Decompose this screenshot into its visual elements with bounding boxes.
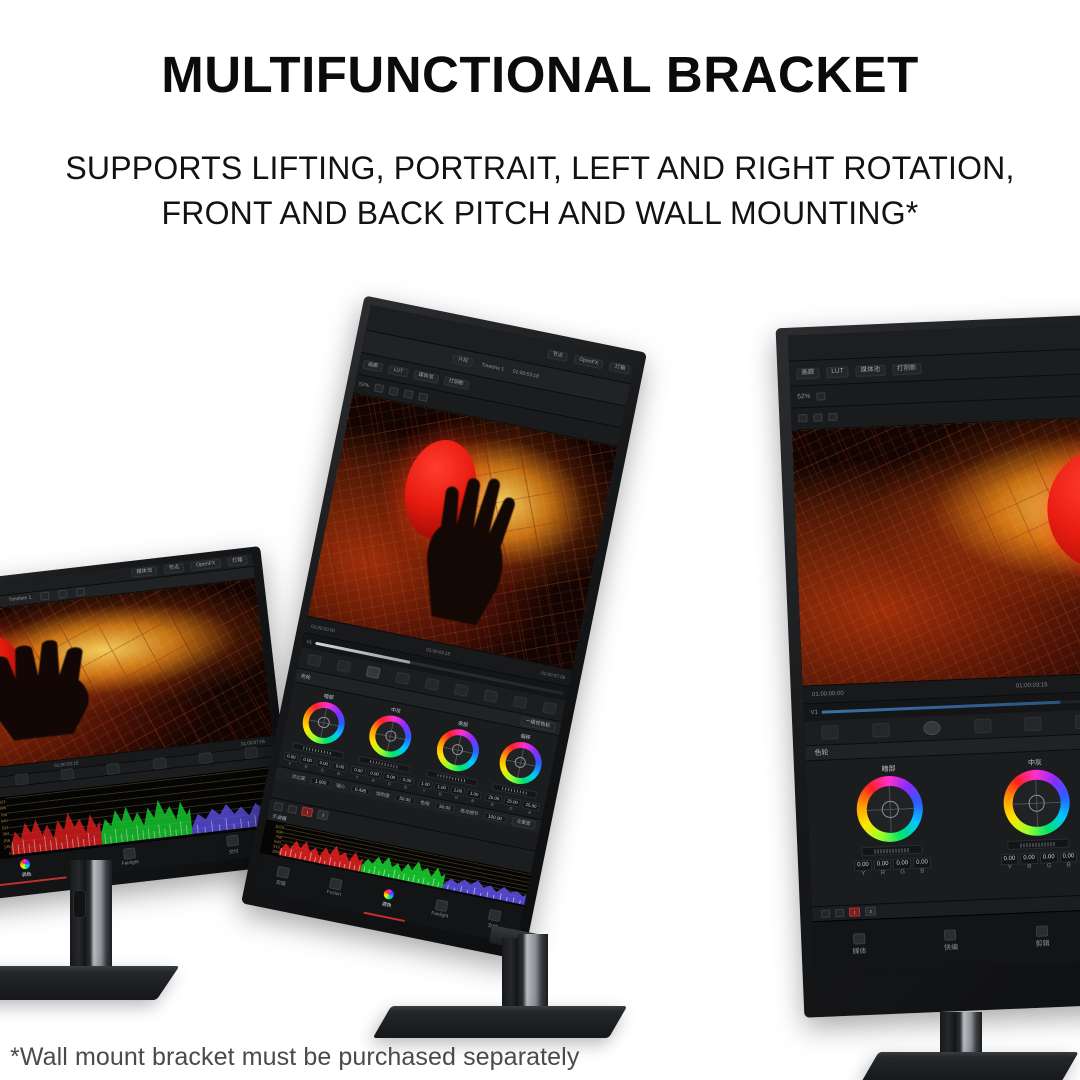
subtitle-line-1: SUPPORTS LIFTING, PORTRAIT, LEFT AND RIG…	[0, 146, 1080, 191]
cut-page-icon	[944, 930, 956, 941]
titlebar-openfx[interactable]: OpenFX	[191, 558, 221, 571]
hand-silhouette	[0, 634, 113, 747]
wheel-value[interactable]: 0.00	[893, 859, 911, 871]
viewer-fine-grid	[792, 411, 1080, 685]
color-wheel-gamma[interactable]	[1002, 769, 1071, 838]
chevron-down-icon[interactable]	[40, 592, 50, 601]
keyframe-icon[interactable]	[542, 701, 557, 714]
color-wheel-lift[interactable]	[856, 775, 925, 844]
track-label: V1	[810, 710, 818, 716]
color-wheel-offset[interactable]	[496, 738, 546, 788]
timecode-end: 01:00:07:05	[541, 670, 566, 680]
product-banner: MULTIFUNCTIONAL BRACKET SUPPORTS LIFTING…	[0, 0, 1080, 1080]
param-value[interactable]: 0.435	[350, 785, 371, 796]
toolbar-media-pool[interactable]: 媒体池	[855, 365, 885, 377]
stand-left-neck-dark	[70, 860, 86, 976]
page-tab-media[interactable]: 媒体	[812, 918, 906, 973]
deliver-page-icon	[226, 834, 239, 846]
node-2[interactable]: 2	[317, 810, 330, 821]
wheel-value[interactable]: 0.00	[1040, 852, 1058, 864]
timecode-end: 01:00:07:05	[241, 738, 266, 746]
toolbar-gallery[interactable]: 画廊	[362, 360, 383, 373]
page-tab-edit[interactable]: 剪辑	[995, 911, 1080, 966]
wheel-channel: Y	[861, 871, 865, 877]
toolbar-gallery[interactable]: 画廊	[796, 368, 819, 379]
color-page-icon	[383, 888, 395, 900]
chevron-down-icon[interactable]	[374, 384, 384, 394]
subbar-timeline-name[interactable]: Timeline 1	[8, 595, 31, 604]
timecode-start: 01:00:00:00	[812, 690, 844, 697]
titlebar-media-pool[interactable]: 媒体池	[131, 566, 157, 578]
wheel-values: 0.00Y 0.00R 0.00G 0.00B	[1000, 852, 1077, 872]
stand-center-base	[373, 1006, 627, 1038]
toolbar-lut[interactable]: LUT	[388, 365, 409, 378]
wheel-label: 中灰	[1028, 758, 1042, 769]
fit-screen-icon[interactable]	[389, 387, 399, 397]
param-label: 高光细节	[460, 808, 479, 818]
stand-center-neck	[518, 934, 548, 1016]
fairlight-page-icon	[435, 899, 449, 912]
wheel-channel: Y	[1008, 865, 1012, 871]
wipe-icon[interactable]	[828, 413, 837, 421]
titlebar-lightbox[interactable]: 灯箱	[227, 555, 248, 566]
color-panel-title: 色轮	[300, 672, 311, 681]
track-label: V1	[306, 639, 312, 645]
wheel-cell: 暗部 0.00Y 0.00R 0.00G 0.00B	[850, 763, 931, 878]
wheel-handle[interactable]	[882, 801, 899, 818]
page-tab-label: Fairlight	[431, 911, 449, 919]
wheel-channel: G	[387, 781, 391, 787]
chevron-down-icon[interactable]	[816, 392, 825, 400]
grid-view-icon[interactable]	[58, 590, 68, 599]
tracker-icon[interactable]	[1025, 717, 1043, 732]
timecode-mid: 01:00:03:15	[426, 647, 451, 657]
page-tab-label: Fusion	[326, 890, 341, 898]
wheel-label: 中灰	[390, 706, 401, 715]
stand-left	[0, 860, 240, 1040]
wheel-channel: G	[320, 768, 324, 774]
stand-left-neck	[86, 860, 112, 976]
page-tab-label: 调色	[381, 900, 392, 909]
edit-page-icon	[1036, 926, 1048, 937]
snapshot-icon[interactable]	[835, 909, 844, 917]
blur-icon[interactable]	[198, 752, 212, 764]
param-value[interactable]: 50.00	[395, 794, 416, 805]
color-wheels-icon[interactable]	[923, 721, 941, 736]
wheel-channel: Y	[355, 775, 359, 780]
viewer-right	[792, 411, 1080, 685]
wheel-channel: G	[454, 795, 458, 801]
wheel-channel: B	[471, 798, 475, 803]
wheel-master-slider[interactable]	[861, 845, 923, 857]
param-value[interactable]: 50.00	[435, 802, 456, 813]
color-wheel-gamma[interactable]	[366, 712, 416, 762]
param-value[interactable]: 100.00	[483, 812, 506, 823]
monitor-right-screen: 片段 画廊 LUT 媒体池 打阴影 Timeline 52%	[788, 317, 1080, 974]
magic-mask-icon[interactable]	[1075, 715, 1080, 730]
subtitle-line-2: FRONT AND BACK PITCH AND WALL MOUNTING*	[0, 191, 1080, 236]
subbar-timeline-name[interactable]: Timeline 1	[481, 362, 505, 372]
titlebar-nodes[interactable]: 节点	[547, 349, 569, 362]
window-icon[interactable]	[974, 719, 992, 734]
stand-left-cable-hole	[73, 890, 86, 918]
keyframe-icon[interactable]	[821, 909, 830, 917]
window-icon[interactable]	[14, 773, 28, 785]
edit-page-icon	[276, 866, 290, 879]
wheel-channel: R	[371, 778, 375, 784]
param-label: 轴心	[336, 782, 346, 790]
wheel-cell: 偏移 25.00R 25.00G 25.00B	[484, 728, 554, 817]
eyedropper-icon[interactable]	[483, 689, 498, 702]
stand-right-neck	[956, 1012, 982, 1056]
color-wheel-lift[interactable]	[299, 698, 349, 748]
param-label: 对比度	[291, 773, 306, 782]
stand-center-neck-dark	[502, 938, 518, 1016]
zoom-level[interactable]: 52%	[797, 393, 810, 401]
param-label: 饱和度	[375, 790, 390, 799]
wheel-channel: B	[528, 810, 532, 815]
wheel-value[interactable]: 0.00	[1000, 854, 1018, 866]
stand-right	[880, 1012, 1080, 1080]
subbar-timecode: 01:00:53:18	[512, 368, 539, 379]
wheel-label: 暗部	[323, 692, 334, 701]
split-view-icon[interactable]	[403, 390, 413, 400]
curves-icon[interactable]	[821, 725, 839, 740]
wheel-label: 暗部	[881, 764, 895, 775]
titlebar-openfx[interactable]: OpenFX	[573, 355, 604, 370]
wheel-value[interactable]: 0.00	[1059, 852, 1077, 864]
monitor-right-landscape: 片段 画廊 LUT 媒体池 打阴影 Timeline 52%	[776, 309, 1080, 1018]
wheel-channel: B	[1067, 863, 1071, 869]
toolbar-shading[interactable]: 打阴影	[892, 363, 922, 375]
param-label: 色相	[420, 799, 430, 807]
fusion-page-icon	[329, 878, 343, 891]
zoom-level[interactable]: 52%	[358, 381, 369, 389]
wheel-channel: G	[1047, 864, 1052, 870]
wheel-channel: R	[438, 792, 442, 798]
toolbar-media-pool[interactable]: 媒体池	[413, 370, 439, 384]
curves-icon[interactable]	[306, 654, 321, 667]
timecode-mid: 01:00:03:15	[1016, 682, 1048, 689]
wheel-label: 偏移	[520, 732, 531, 741]
stand-left-base	[0, 966, 179, 1000]
wheel-cell: 亮部 1.00Y 1.00R 1.00G 1.00B	[416, 714, 495, 805]
media-page-icon	[853, 934, 865, 945]
color-wheels-right: 暗部 0.00Y 0.00R 0.00G 0.00B	[806, 743, 1080, 882]
snapshot-icon[interactable]	[288, 804, 298, 814]
keyframe-icon[interactable]	[274, 802, 284, 812]
wheel-value[interactable]: 0.00	[854, 860, 872, 872]
wheel-channel: B	[404, 785, 408, 790]
stand-center	[370, 930, 660, 1050]
color-panel-title: 色轮	[814, 748, 828, 759]
node-1[interactable]: 1	[301, 807, 314, 818]
wheel-channel: Y	[422, 788, 426, 793]
qualifier-icon[interactable]	[336, 660, 351, 673]
split-view-icon[interactable]	[798, 414, 807, 422]
magic-mask-icon[interactable]	[453, 684, 468, 697]
tracker-icon[interactable]	[60, 768, 74, 780]
keyframe-icon[interactable]	[244, 747, 258, 759]
node-1[interactable]: 1	[849, 908, 860, 917]
monitor-left-screen: Untitled Project 片段 媒体池 节点 OpenFX 灯箱 Tim…	[0, 553, 286, 901]
window-icon[interactable]	[395, 672, 410, 685]
wheel-channel: G	[900, 870, 905, 876]
wipe-icon[interactable]	[418, 393, 428, 403]
magic-mask-icon[interactable]	[106, 763, 120, 775]
wheel-channel: G	[509, 806, 513, 812]
resolve-ui-center: 节点 OpenFX 灯箱 片段 Timeline 1 01:00:53:18 画…	[252, 305, 636, 945]
subbar-clips[interactable]: 片段	[452, 355, 473, 368]
wheel-channel: R	[490, 802, 494, 808]
eyedropper-icon[interactable]	[152, 757, 166, 769]
qualifier-icon[interactable]	[872, 723, 890, 738]
timecode-start: 01:00:00:00	[311, 623, 336, 633]
deliver-page-icon	[488, 909, 502, 922]
footnote-text: *Wall mount bracket must be purchased se…	[10, 1043, 579, 1072]
grid-view-icon[interactable]	[813, 414, 822, 422]
wheel-channel: B	[920, 869, 924, 875]
page-tab-label: 快编	[944, 943, 958, 954]
wheel-channel: R	[304, 764, 308, 770]
page-tab-label: 剪辑	[275, 879, 286, 888]
page-tab-label: 交付	[229, 847, 239, 855]
stand-right-neck-dark	[940, 1012, 956, 1056]
param-value[interactable]: 1.000	[310, 777, 331, 788]
wheel-cell: 暗部 0.00Y 0.00R 0.00G 0.00B	[282, 687, 361, 778]
node-2[interactable]: 2	[865, 907, 876, 916]
list-view-icon[interactable]	[76, 588, 86, 597]
page-tab-cut[interactable]: 快编	[904, 915, 998, 970]
wheel-channel: R	[1027, 865, 1032, 871]
wheel-channel: B	[337, 771, 341, 776]
monitor-center-portrait: 节点 OpenFX 灯箱 片段 Timeline 1 01:00:53:18 画…	[241, 296, 647, 961]
blur-icon[interactable]	[512, 695, 527, 708]
toolbar-shading[interactable]: 打阴影	[443, 376, 469, 390]
timecode-mid: 01:00:03:15	[54, 760, 79, 768]
tracker-icon[interactable]	[424, 678, 439, 691]
resolve-ui-left: Untitled Project 片段 媒体池 节点 OpenFX 灯箱 Tim…	[0, 553, 286, 901]
wheel-value[interactable]: 0.00	[913, 858, 931, 870]
wheel-value[interactable]: 0.00	[874, 859, 892, 871]
resolve-ui-right: 片段 画廊 LUT 媒体池 打阴影 Timeline 52%	[788, 317, 1080, 974]
wheel-master-slider[interactable]	[1007, 839, 1069, 851]
toolbar-lut[interactable]: LUT	[826, 366, 849, 377]
fairlight-page-icon	[123, 847, 136, 859]
wheel-channel: R	[881, 871, 886, 877]
color-wheel-gain[interactable]	[433, 725, 483, 775]
wheel-cell: 中灰 0.00Y 0.00R 0.00G 0.00B	[996, 757, 1077, 872]
page-subtitle: SUPPORTS LIFTING, PORTRAIT, LEFT AND RIG…	[0, 146, 1080, 237]
reset-all-button[interactable]: 全重置	[511, 817, 536, 830]
page-tab-label: 剪辑	[1035, 939, 1049, 950]
wheel-cell: 中灰 0.00Y 0.00R 0.00G 0.00B	[349, 700, 428, 791]
wheel-values: 0.00Y 0.00R 0.00G 0.00B	[854, 858, 931, 878]
titlebar-nodes[interactable]: 节点	[163, 563, 184, 574]
page-tab-label: 媒体	[852, 947, 866, 958]
monitor-center-screen: 节点 OpenFX 灯箱 片段 Timeline 1 01:00:53:18 画…	[252, 305, 636, 945]
wheel-label: 亮部	[457, 720, 468, 729]
color-wheels-icon[interactable]	[365, 666, 380, 679]
page-title: MULTIFUNCTIONAL BRACKET	[0, 48, 1080, 102]
color-wheel-panel-right: 色轮 暗部 0.00Y 0.00R	[805, 728, 1080, 907]
stand-right-base	[861, 1052, 1078, 1080]
wheel-channel: Y	[288, 761, 292, 766]
titlebar-lightbox[interactable]: 灯箱	[609, 362, 631, 375]
wheel-value[interactable]: 0.00	[1020, 853, 1038, 865]
